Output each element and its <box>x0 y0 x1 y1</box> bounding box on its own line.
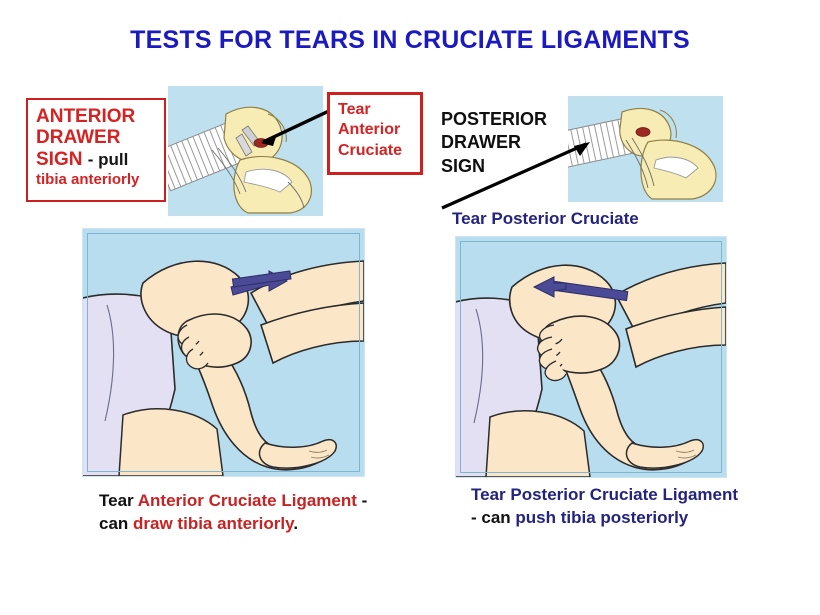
anterior-drawer-illustration <box>83 229 364 476</box>
caption-right-seg1: Tear Posterior Cruciate Ligament <box>471 485 738 504</box>
anterior-label-line4: tibia anteriorly <box>36 171 157 188</box>
slide-canvas: TESTS FOR TEARS IN CRUCIATE LIGAMENTS AN… <box>0 0 820 615</box>
tear-ant-line3: Cruciate <box>338 141 420 161</box>
tear-posterior-cruciate-caption: Tear Posterior Cruciate <box>452 209 639 229</box>
anterior-label-sign: SIGN <box>36 149 82 170</box>
caption-left-seg5: . <box>293 514 298 533</box>
tear-ant-line1: Tear <box>338 100 420 120</box>
anterior-label-line1: ANTERIOR <box>36 106 157 127</box>
caption-right-seg3: push tibia posteriorly <box>515 508 688 527</box>
caption-left-seg2: Anterior Cruciate Ligament <box>138 491 357 510</box>
anterior-label-pull: - pull <box>88 150 129 169</box>
posterior-drawer-illustration <box>456 237 726 477</box>
caption-right-seg2: - can <box>471 508 515 527</box>
page-title: TESTS FOR TEARS IN CRUCIATE LIGAMENTS <box>0 26 820 55</box>
anterior-drawer-sign-label-box: ANTERIOR DRAWER SIGN - pull tibia anteri… <box>26 98 166 202</box>
posterior-tear-pointer-arrow <box>436 140 596 212</box>
anterior-drawer-test-photo <box>82 228 365 477</box>
posterior-label-line1: POSTERIOR <box>441 108 581 131</box>
posterior-drawer-test-photo <box>455 236 727 478</box>
tear-anterior-cruciate-label-box: Tear Anterior Cruciate <box>327 92 423 175</box>
caption-left-seg4: draw tibia anteriorly <box>133 514 293 533</box>
anterior-tear-pointer-arrow <box>243 106 335 152</box>
tear-ant-line2: Anterior <box>338 120 420 140</box>
anterior-label-line2: DRAWER <box>36 127 157 148</box>
anterior-label-line3: SIGN - pull <box>36 149 157 170</box>
anterior-result-caption: Tear Anterior Cruciate Ligament - can dr… <box>99 490 374 535</box>
caption-left-seg1: Tear <box>99 491 138 510</box>
posterior-result-caption: Tear Posterior Cruciate Ligament - can p… <box>471 484 741 529</box>
